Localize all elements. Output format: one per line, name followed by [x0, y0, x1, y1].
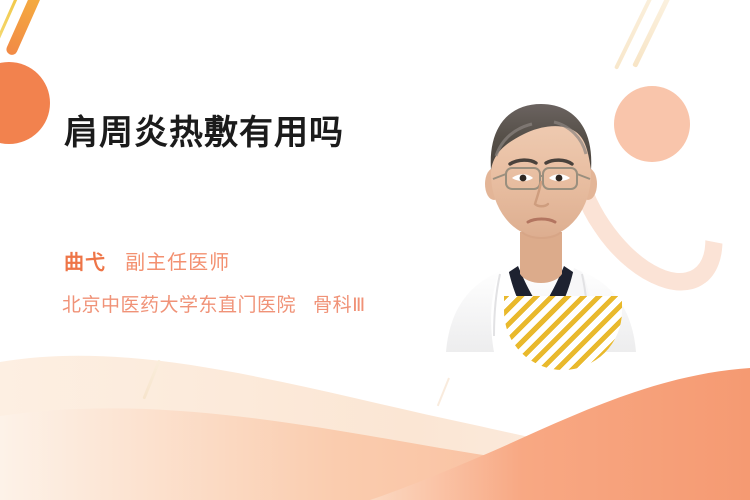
wave-strong — [370, 368, 750, 500]
wave-light — [0, 356, 750, 500]
hospital-name: 北京中医药大学东直门医院 — [62, 294, 296, 316]
department-name: 骨科Ⅲ — [313, 294, 366, 316]
page-title: 肩周炎热敷有用吗 — [64, 112, 464, 155]
shirt-button — [537, 303, 543, 309]
faint-stripe-decoration-right — [437, 378, 450, 407]
doctor-identity-line: 曲弋 副主任医师 — [64, 246, 230, 275]
orange-circle-decoration — [0, 62, 50, 144]
doctor-affiliation-line: 北京中医药大学东直门医院 骨科Ⅲ — [62, 290, 366, 317]
doctor-rank: 副主任医师 — [125, 250, 230, 274]
yellow-stripe-decoration — [0, 0, 25, 56]
doctor-name: 曲弋 — [64, 250, 106, 274]
neck — [520, 232, 562, 283]
title-block: 肩周炎热敷有用吗 — [64, 112, 464, 155]
faint-stripe-decoration-center — [142, 359, 161, 399]
orange-stripe-decoration — [5, 0, 51, 57]
doctor-portrait — [436, 52, 646, 352]
wave-mid — [0, 408, 750, 500]
doctor-video-cover-card: 肩周炎热敷有用吗 曲弋 副主任医师 北京中医药大学东直门医院 骨科Ⅲ — [0, 0, 750, 500]
